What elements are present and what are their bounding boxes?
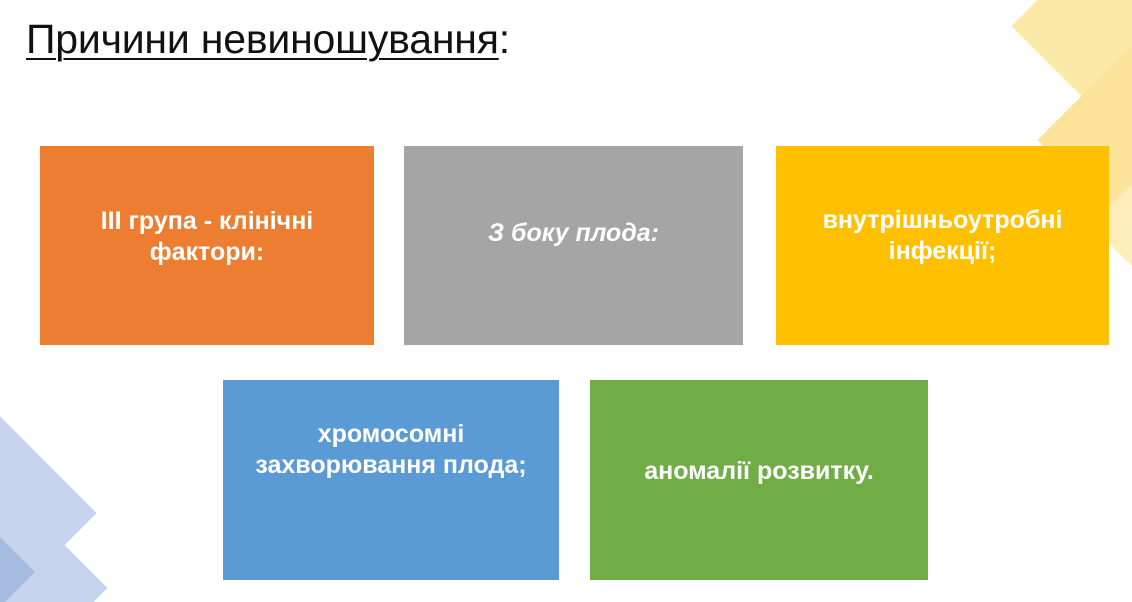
diamond-decoration-bottom-left-3: [0, 521, 35, 602]
slide-title-underlined-text: Причини невиношування: [26, 16, 499, 62]
diamond-decoration-bottom-left-2: [0, 514, 108, 602]
box-chromosomal-diseases[interactable]: хромосомні захворювання плода;: [223, 380, 559, 580]
box-clinical-factors[interactable]: III група - клінічні фактори:: [40, 146, 374, 345]
chevron-decoration-top-right-1: [1012, 0, 1132, 150]
box-intrauterine-infections-label: внутрішньоутробні інфекції;: [790, 205, 1095, 268]
box-developmental-anomalies-label: аномалії розвитку.: [604, 456, 914, 487]
box-intrauterine-infections[interactable]: внутрішньоутробні інфекції;: [776, 146, 1109, 345]
box-clinical-factors-label: III група - клінічні фактори:: [54, 206, 360, 269]
box-chromosomal-diseases-label: хромосомні захворювання плода;: [237, 419, 545, 482]
slide-title: Причини невиношування:: [26, 17, 510, 63]
slide-title-colon: :: [499, 16, 510, 62]
box-from-fetus-side[interactable]: З боку плода:: [404, 146, 743, 345]
box-developmental-anomalies[interactable]: аномалії розвитку.: [590, 380, 928, 580]
slide-canvas: Причини невиношування: III група - кліні…: [0, 0, 1132, 602]
box-from-fetus-side-label: З боку плода:: [418, 218, 729, 249]
diamond-decoration-bottom-left-1: [0, 415, 97, 602]
